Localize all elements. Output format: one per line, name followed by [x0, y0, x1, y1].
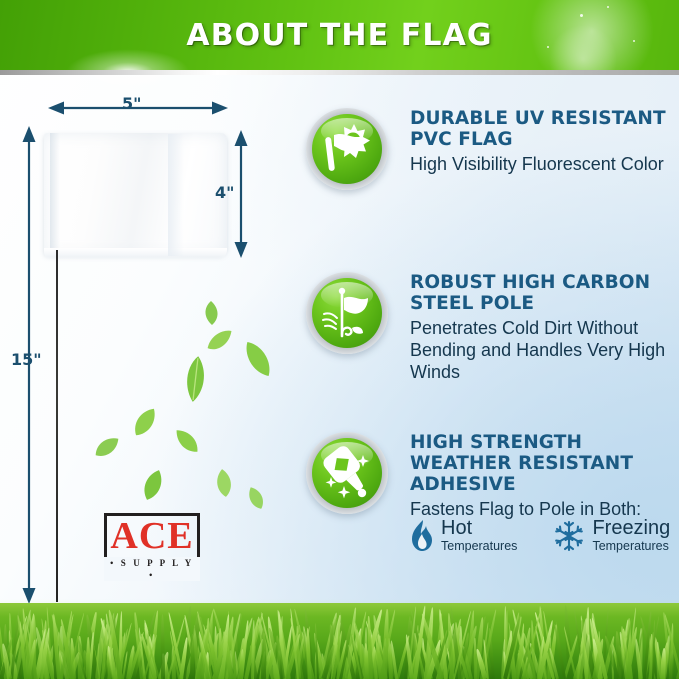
leaf-icon: [88, 429, 125, 464]
leaf-icon: [135, 464, 172, 505]
dimension-label-flag-height: 4": [215, 183, 234, 202]
badge-inner: [312, 114, 382, 184]
feature-title: ROBUST HIGH CARBON STEEL POLE: [410, 272, 672, 314]
product-infographic: ABOUT THE FLAG 5" 4" 15": [0, 0, 679, 679]
leaf-icon: [236, 334, 280, 383]
temperature-subtitle: Temperatures: [441, 539, 517, 553]
temperature-title: Hot: [441, 518, 517, 539]
adhesive-glue-bottle-icon: [318, 444, 376, 502]
feature-text: ROBUST HIGH CARBON STEEL POLE Penetrates…: [410, 272, 672, 383]
double-arrow-vertical-icon: [232, 130, 250, 258]
dimension-label-width: 5": [122, 94, 141, 113]
temperature-title: Freezing: [592, 518, 670, 539]
temperature-labels: Hot Temperatures: [441, 518, 517, 553]
snowflake-icon: [553, 520, 585, 552]
leaf-icon: [168, 422, 206, 460]
leaf-icon: [211, 467, 237, 500]
flame-icon: [410, 520, 434, 552]
flag-with-sun-icon: [318, 120, 376, 178]
temperature-subtitle: Temperatures: [592, 539, 670, 553]
feature-body: Penetrates Cold Dirt Without Bending and…: [410, 317, 672, 383]
temperature-labels: Freezing Temperatures: [592, 518, 670, 553]
feature-badge: [306, 432, 388, 514]
badge-inner: [312, 278, 382, 348]
feature-text: HIGH STRENGTH WEATHER RESISTANT ADHESIVE…: [410, 432, 672, 520]
badge-inner: [312, 438, 382, 508]
logo-brand: ACE: [104, 517, 200, 555]
ace-supply-logo: ACE • S U P P L Y •: [104, 513, 200, 575]
grass-blade: [161, 614, 166, 679]
feature-badge: [306, 108, 388, 190]
logo-tagline: • S U P P L Y •: [104, 557, 200, 581]
leaf-icon: [126, 401, 165, 443]
temperature-item-hot: Hot Temperatures: [410, 518, 517, 553]
flag-pole: [56, 250, 58, 602]
flag-pole-wind-icon: [318, 284, 376, 342]
temperature-item-freezing: Freezing Temperatures: [553, 518, 670, 553]
header-divider: [0, 70, 679, 75]
flag-cloth: [44, 133, 227, 255]
feature-title: DURABLE UV RESISTANT PVC FLAG: [410, 108, 672, 150]
leaf-icon: [179, 353, 211, 404]
leaf-icon: [241, 482, 270, 514]
logo-tagline-wrap: • S U P P L Y •: [104, 557, 200, 583]
feature-title: HIGH STRENGTH WEATHER RESISTANT ADHESIVE: [410, 432, 672, 495]
dimension-label-total-height: 15": [11, 350, 42, 369]
feature-badge: [306, 272, 388, 354]
page-title: ABOUT THE FLAG: [0, 0, 679, 70]
leaf-icon: [202, 326, 237, 356]
grass-blade: [261, 633, 266, 679]
grass-strip: [0, 603, 679, 679]
feature-body: High Visibility Fluorescent Color: [410, 153, 672, 175]
feature-text: DURABLE UV RESISTANT PVC FLAG High Visib…: [410, 108, 672, 175]
leaf-icon: [200, 300, 222, 326]
temperature-range-row: Hot Temperatures Freezing Temperatures: [410, 518, 670, 553]
